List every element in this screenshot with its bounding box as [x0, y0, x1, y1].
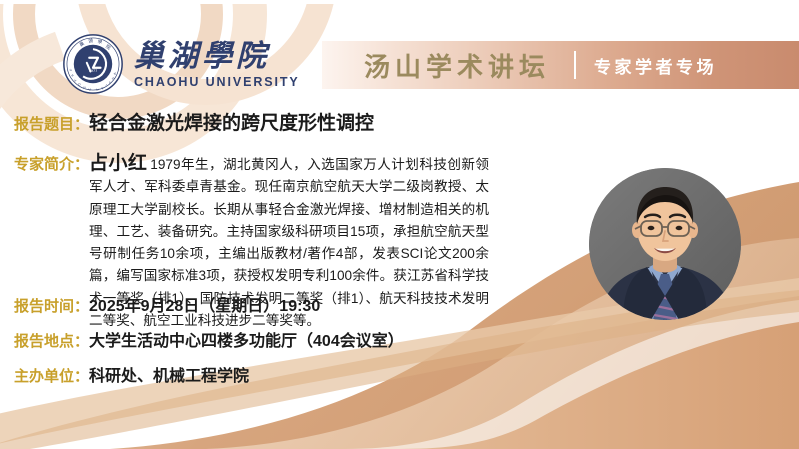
university-wordmark: 巢湖學院 CHAOHU UNIVERSITY	[134, 41, 300, 90]
speaker-portrait	[589, 168, 741, 320]
report-time-row: 报告时间： 2025年9月28日（星期日）19:30	[14, 292, 320, 316]
svg-text:1977: 1977	[89, 69, 98, 73]
report-time-label: 报告时间：	[14, 295, 89, 316]
poster-header: 1977 巢 湖 學 院 C H A O H U U N I V E R 巢湖學…	[0, 0, 799, 104]
speaker-portrait-image	[589, 168, 741, 320]
report-place-label: 报告地点：	[14, 330, 89, 351]
forum-banner: 汤山学术讲坛 专家学者专场	[322, 41, 799, 89]
university-logo: 1977 巢 湖 學 院 C H A O H U U N I V E R 巢湖學…	[62, 33, 300, 95]
university-name-cn: 巢湖學院	[134, 41, 300, 73]
report-time-value: 2025年9月28日（星期日）19:30	[89, 292, 320, 316]
report-place-row: 报告地点： 大学生活动中心四楼多功能厅（404会议室）	[14, 327, 404, 351]
university-name-en: CHAOHU UNIVERSITY	[134, 75, 300, 89]
report-title-value: 轻合金激光焊接的跨尺度形性调控	[89, 108, 374, 135]
expert-intro-label: 专家简介：	[14, 153, 89, 174]
report-title-row: 报告题目： 轻合金激光焊接的跨尺度形性调控	[14, 108, 374, 135]
report-place-value: 大学生活动中心四楼多功能厅（404会议室）	[89, 327, 404, 351]
poster-canvas: 1977 巢 湖 學 院 C H A O H U U N I V E R 巢湖學…	[0, 0, 799, 449]
forum-subtitle: 专家学者专场	[594, 53, 717, 78]
forum-title: 汤山学术讲坛	[364, 47, 550, 84]
expert-name: 占小红	[89, 153, 147, 174]
chaohu-university-seal-icon: 1977 巢 湖 學 院 C H A O H U U N I V E R	[62, 33, 124, 95]
host-unit-row: 主办单位： 科研处、机械工程学院	[14, 362, 249, 386]
host-unit-label: 主办单位：	[14, 365, 89, 386]
host-unit-value: 科研处、机械工程学院	[89, 362, 249, 386]
svg-text:U: U	[88, 88, 91, 92]
report-title-label: 报告题目：	[14, 113, 89, 134]
banner-divider	[574, 51, 576, 79]
